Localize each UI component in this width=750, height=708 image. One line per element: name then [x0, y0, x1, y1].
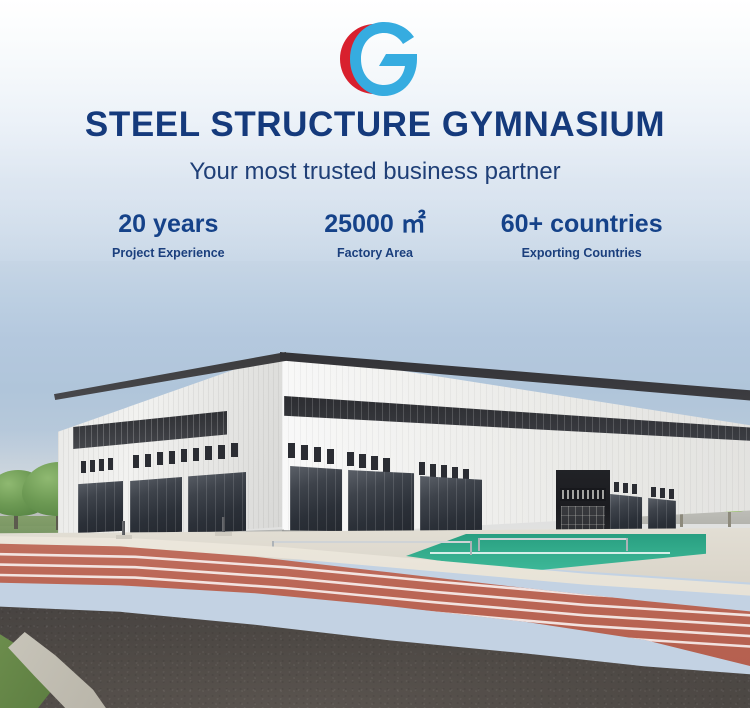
stat-label: Exporting Countries — [478, 246, 685, 261]
window — [419, 462, 425, 475]
window — [359, 454, 366, 468]
window — [288, 443, 295, 458]
window — [327, 449, 334, 464]
window — [632, 484, 637, 494]
entrance-sign-band — [560, 488, 606, 501]
bollard-base — [215, 532, 232, 536]
court-net — [478, 538, 628, 540]
page-subtitle: Your most trusted business partner — [0, 158, 750, 186]
window — [651, 487, 656, 497]
window — [99, 459, 104, 471]
stat-item: 25000 ㎡ Factory Area — [272, 211, 479, 261]
bollard-base — [116, 535, 132, 539]
window — [383, 458, 390, 472]
window — [660, 488, 665, 498]
promo-banner: STEEL STRUCTURE GYMNASIUM Your most trus… — [0, 0, 750, 708]
logo-blue-g — [350, 22, 417, 96]
window — [301, 445, 308, 460]
stat-label: Factory Area — [272, 246, 479, 261]
window — [193, 448, 199, 461]
window — [169, 451, 175, 464]
window — [623, 483, 628, 493]
window — [157, 452, 163, 465]
glass-bay — [78, 481, 123, 533]
window — [90, 460, 95, 472]
window — [108, 458, 113, 470]
stat-value: 25000 ㎡ — [272, 211, 479, 239]
window — [145, 454, 151, 467]
window — [314, 447, 321, 462]
page-title: STEEL STRUCTURE GYMNASIUM — [0, 106, 750, 145]
glass-bay — [290, 466, 342, 534]
net-post — [626, 538, 628, 551]
window — [371, 456, 378, 470]
court-line — [430, 552, 670, 554]
net-post — [470, 541, 472, 555]
window — [205, 446, 212, 460]
window — [133, 455, 139, 468]
window — [181, 449, 187, 462]
window — [614, 482, 619, 492]
window — [218, 445, 225, 459]
window — [669, 489, 674, 499]
banner-header: STEEL STRUCTURE GYMNASIUM Your most trus… — [0, 0, 750, 261]
stat-item: 20 years Project Experience — [65, 211, 272, 261]
company-logo — [329, 18, 421, 100]
glass-bay — [348, 470, 414, 536]
glass-bay — [130, 477, 182, 534]
company-g-logo — [329, 18, 421, 100]
court-net — [272, 541, 472, 543]
glass-bay — [420, 476, 482, 538]
stats-row: 20 years Project Experience 25000 ㎡ Fact… — [65, 211, 685, 261]
glass-bay — [188, 472, 246, 535]
stat-value: 20 years — [65, 211, 272, 239]
window — [430, 464, 436, 477]
glass-bay — [610, 494, 642, 534]
window — [81, 461, 86, 473]
window — [347, 452, 354, 466]
stat-value: 60+ countries — [478, 211, 685, 239]
stat-item: 60+ countries Exporting Countries — [478, 211, 685, 261]
window — [441, 465, 447, 478]
stat-label: Project Experience — [65, 246, 272, 261]
window — [231, 443, 238, 457]
net-post — [478, 538, 480, 551]
